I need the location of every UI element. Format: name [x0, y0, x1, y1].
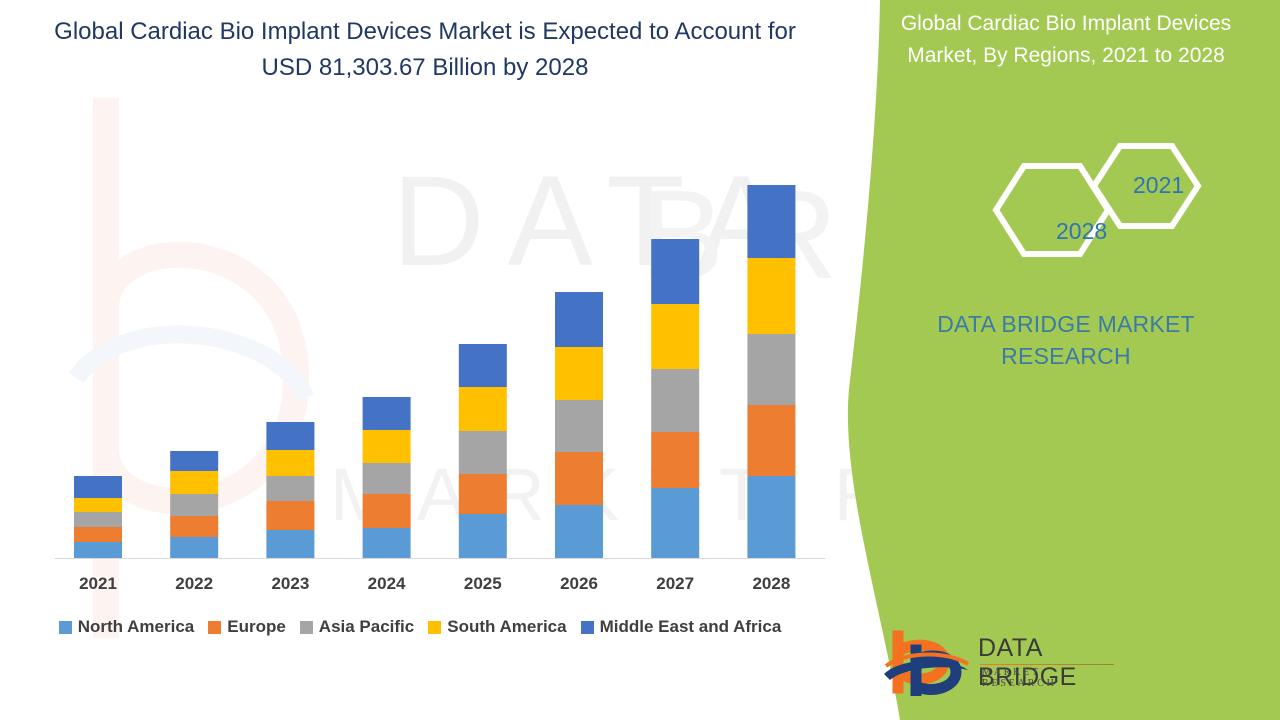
x-label-2023: 2023	[245, 574, 335, 594]
segment-middle-east-and-africa[interactable]	[747, 185, 795, 259]
x-label-2022: 2022	[149, 574, 239, 594]
segment-middle-east-and-africa[interactable]	[363, 397, 411, 430]
segment-asia-pacific[interactable]	[74, 512, 122, 527]
x-label-2028: 2028	[726, 574, 816, 594]
segment-north-america[interactable]	[459, 514, 507, 558]
legend-item-middle-east-and-africa[interactable]: Middle East and Africa	[581, 617, 782, 637]
segment-south-america[interactable]	[74, 498, 122, 512]
chart-legend: North AmericaEuropeAsia PacificSouth Ame…	[0, 617, 840, 637]
legend-label: South America	[447, 617, 566, 637]
data-bridge-logo: DATA BRIDGE MARKET RESEARCH	[882, 630, 1118, 696]
logo-mark-icon	[882, 630, 974, 696]
segment-north-america[interactable]	[363, 528, 411, 558]
legend-label: Europe	[227, 617, 286, 637]
infographic-page: DATA BRIDGE MARKET RESEARCH Global Cardi…	[0, 0, 1280, 720]
panel-brand-name: DATA BRIDGE MARKET RESEARCH	[880, 308, 1252, 372]
legend-swatch-icon	[428, 621, 441, 634]
x-axis-line	[55, 558, 825, 559]
segment-europe[interactable]	[651, 432, 699, 488]
segment-north-america[interactable]	[266, 530, 314, 558]
segment-south-america[interactable]	[266, 450, 314, 477]
segment-middle-east-and-africa[interactable]	[459, 344, 507, 387]
segment-middle-east-and-africa[interactable]	[74, 476, 122, 498]
legend-item-asia-pacific[interactable]: Asia Pacific	[300, 617, 414, 637]
legend-item-south-america[interactable]: South America	[428, 617, 566, 637]
segment-north-america[interactable]	[555, 505, 603, 558]
legend-label: Middle East and Africa	[600, 617, 782, 637]
segment-north-america[interactable]	[651, 488, 699, 558]
brand-panel: Global Cardiac Bio Implant Devices Marke…	[850, 0, 1280, 720]
segment-europe[interactable]	[170, 516, 218, 537]
segment-europe[interactable]	[74, 527, 122, 543]
segment-south-america[interactable]	[459, 387, 507, 431]
x-label-2027: 2027	[630, 574, 720, 594]
segment-middle-east-and-africa[interactable]	[651, 239, 699, 304]
hexagon-outline-icon	[978, 140, 1208, 285]
segment-middle-east-and-africa[interactable]	[170, 451, 218, 471]
segment-europe[interactable]	[747, 405, 795, 476]
panel-heading: Global Cardiac Bio Implant Devices Marke…	[870, 8, 1262, 72]
segment-asia-pacific[interactable]	[266, 476, 314, 501]
segment-asia-pacific[interactable]	[459, 431, 507, 475]
hexagon-label-upper: 2021	[1133, 172, 1184, 199]
legend-label: North America	[78, 617, 195, 637]
hexagon-badges: 2021 2028	[978, 140, 1208, 285]
segment-europe[interactable]	[266, 501, 314, 529]
x-label-2025: 2025	[438, 574, 528, 594]
segment-south-america[interactable]	[555, 347, 603, 400]
logo-subtitle: MARKET RESEARCH	[982, 667, 1118, 689]
segment-europe[interactable]	[363, 494, 411, 529]
stacked-bar-chart: 20212022202320242025202620272028	[0, 0, 840, 600]
segment-north-america[interactable]	[170, 537, 218, 558]
segment-asia-pacific[interactable]	[555, 400, 603, 453]
legend-item-north-america[interactable]: North America	[59, 617, 195, 637]
x-label-2021: 2021	[53, 574, 143, 594]
legend-swatch-icon	[300, 621, 313, 634]
legend-item-europe[interactable]: Europe	[208, 617, 286, 637]
segment-asia-pacific[interactable]	[363, 463, 411, 494]
segment-europe[interactable]	[459, 474, 507, 513]
hexagon-label-lower: 2028	[1056, 218, 1107, 245]
segment-europe[interactable]	[555, 452, 603, 505]
segment-asia-pacific[interactable]	[747, 334, 795, 405]
logo-divider	[980, 664, 1114, 665]
legend-swatch-icon	[208, 621, 221, 634]
segment-asia-pacific[interactable]	[651, 369, 699, 433]
segment-asia-pacific[interactable]	[170, 494, 218, 516]
segment-north-america[interactable]	[747, 476, 795, 558]
segment-south-america[interactable]	[363, 430, 411, 463]
segment-north-america[interactable]	[74, 542, 122, 558]
x-label-2026: 2026	[534, 574, 624, 594]
legend-swatch-icon	[581, 621, 594, 634]
segment-middle-east-and-africa[interactable]	[266, 422, 314, 450]
legend-swatch-icon	[59, 621, 72, 634]
segment-south-america[interactable]	[747, 258, 795, 334]
x-label-2024: 2024	[342, 574, 432, 594]
segment-middle-east-and-africa[interactable]	[555, 292, 603, 347]
segment-south-america[interactable]	[170, 471, 218, 494]
segment-south-america[interactable]	[651, 304, 699, 369]
legend-label: Asia Pacific	[319, 617, 414, 637]
